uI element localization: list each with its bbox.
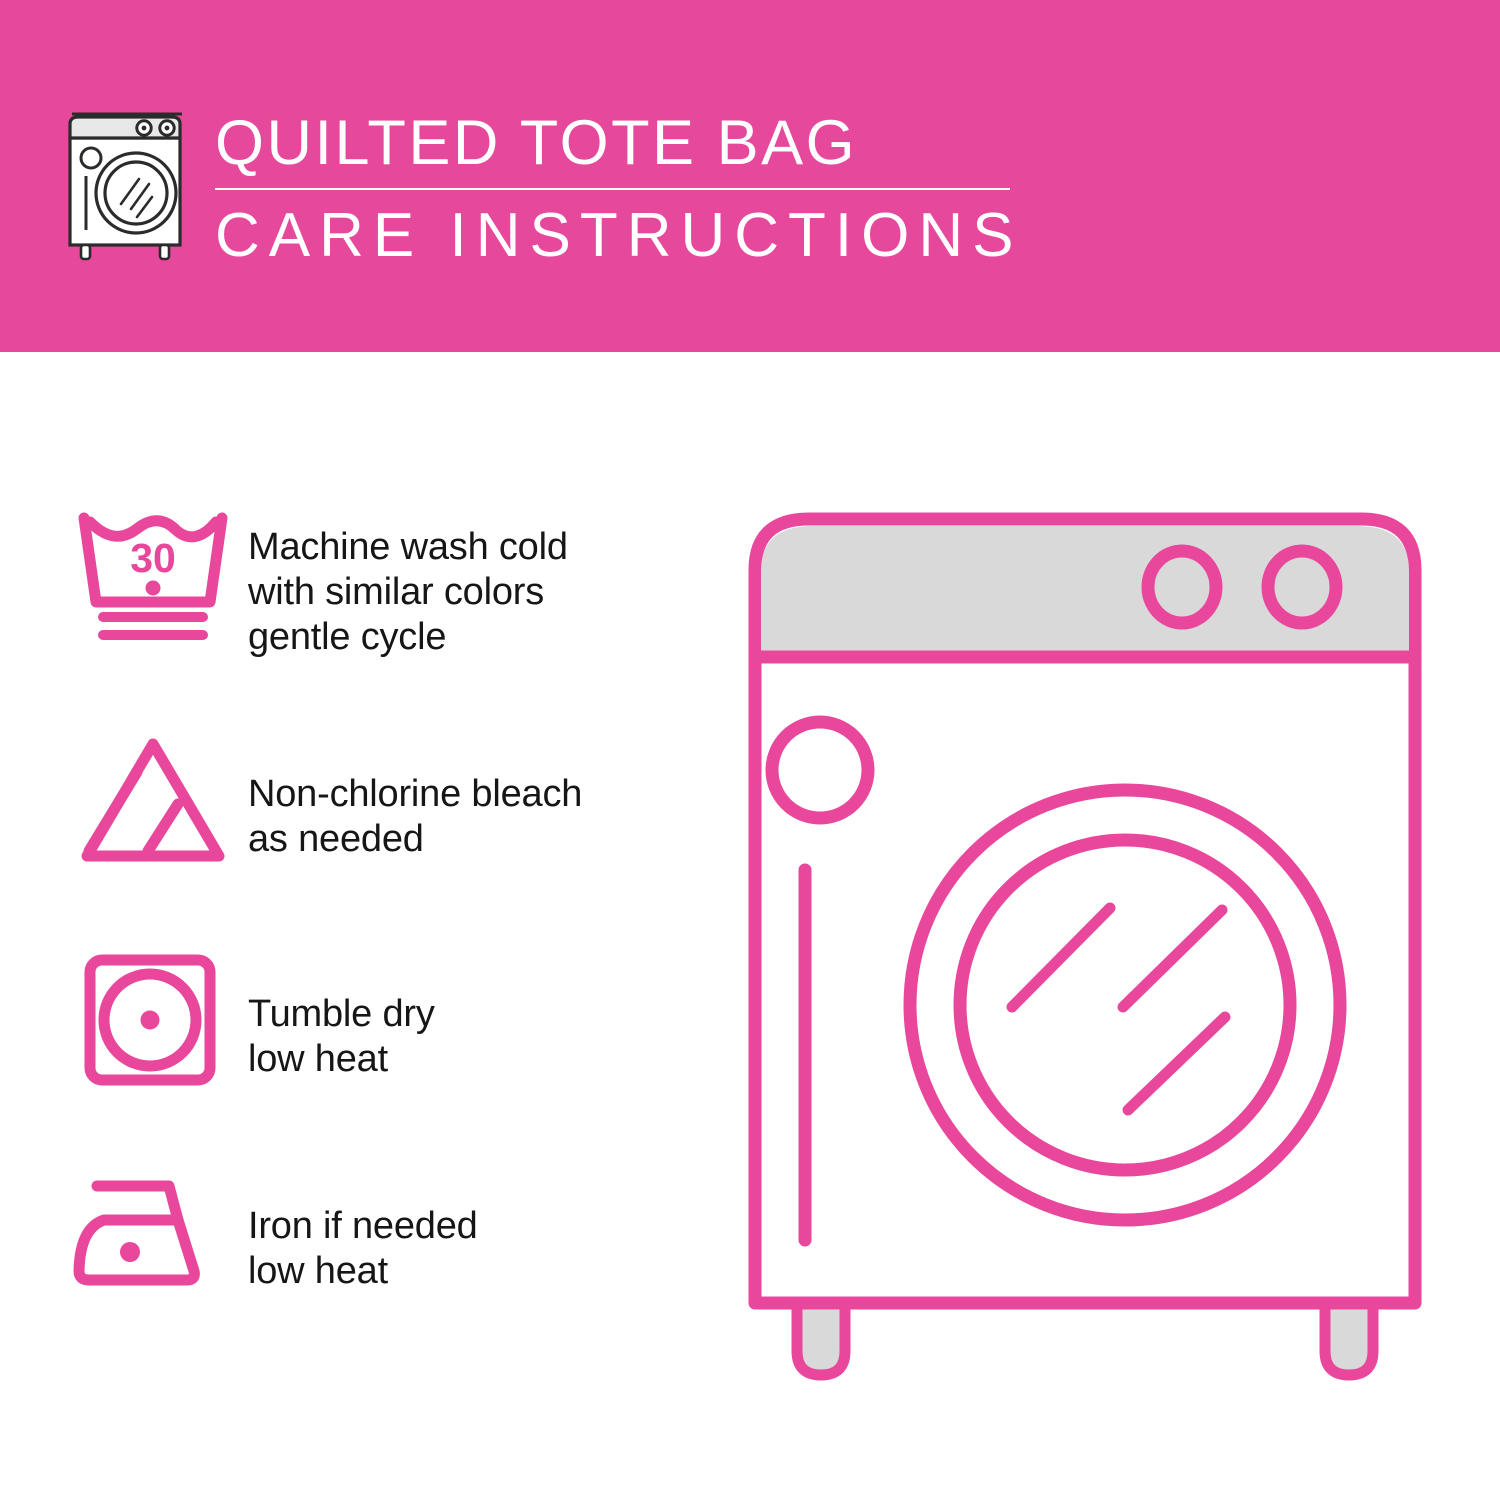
list-item: 30 Machine wash cold with similar colors… — [68, 500, 708, 722]
iron-low-heat-icon — [68, 1166, 248, 1297]
instruction-label: Tumble dry low heat — [248, 944, 708, 1082]
wash-tub-30-gentle-icon: 30 — [68, 500, 248, 646]
control-knob-left — [1148, 551, 1216, 623]
page-title: QUILTED TOTE BAG — [215, 106, 1015, 180]
instruction-label: Iron if needed low heat — [248, 1166, 708, 1294]
non-chlorine-bleach-triangle-icon — [68, 722, 248, 868]
page-subtitle: CARE INSTRUCTIONS — [215, 200, 1015, 272]
header-divider — [215, 188, 1010, 190]
wash-temperature-value: 30 — [130, 535, 176, 581]
instruction-label: Machine wash cold with similar colors ge… — [248, 500, 708, 660]
list-item: Tumble dry low heat — [68, 944, 708, 1166]
instruction-list: 30 Machine wash cold with similar colors… — [68, 500, 708, 1326]
care-instructions-page: QUILTED TOTE BAG CARE INSTRUCTIONS 30 — [0, 0, 1500, 1500]
control-knob-right — [1268, 551, 1336, 623]
list-item: Non-chlorine bleach as needed — [68, 722, 708, 944]
list-item: Iron if needed low heat — [68, 1166, 708, 1326]
detergent-port — [772, 722, 868, 818]
front-load-washing-machine-illustration — [735, 495, 1435, 1420]
header-banner: QUILTED TOTE BAG CARE INSTRUCTIONS — [0, 0, 1500, 352]
washing-machine-logo-icon — [64, 108, 194, 268]
header-text-block: QUILTED TOTE BAG CARE INSTRUCTIONS — [215, 106, 1015, 272]
instruction-label: Non-chlorine bleach as needed — [248, 722, 708, 862]
tumble-dry-low-heat-icon — [68, 944, 248, 1090]
